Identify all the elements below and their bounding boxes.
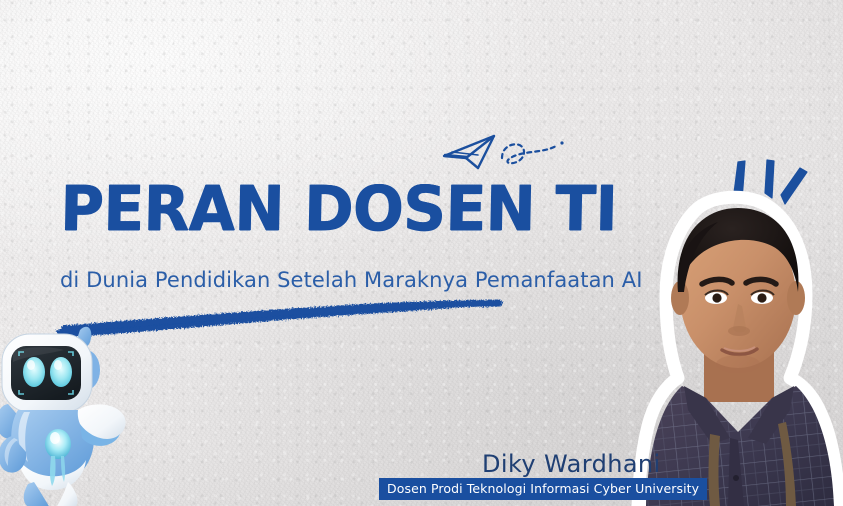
page-title: PERAN DOSEN TI xyxy=(60,178,618,240)
robot-mascot xyxy=(0,308,134,506)
speaker-role-badge: Dosen Prodi Teknologi Informasi Cyber Un… xyxy=(379,478,707,500)
speaker-name: Diky Wardhani xyxy=(482,450,661,478)
presentation-slide: PERAN DOSEN TI di Dunia Pendidikan Setel… xyxy=(0,0,843,506)
page-subtitle: di Dunia Pendidikan Setelah Maraknya Pem… xyxy=(60,268,643,292)
